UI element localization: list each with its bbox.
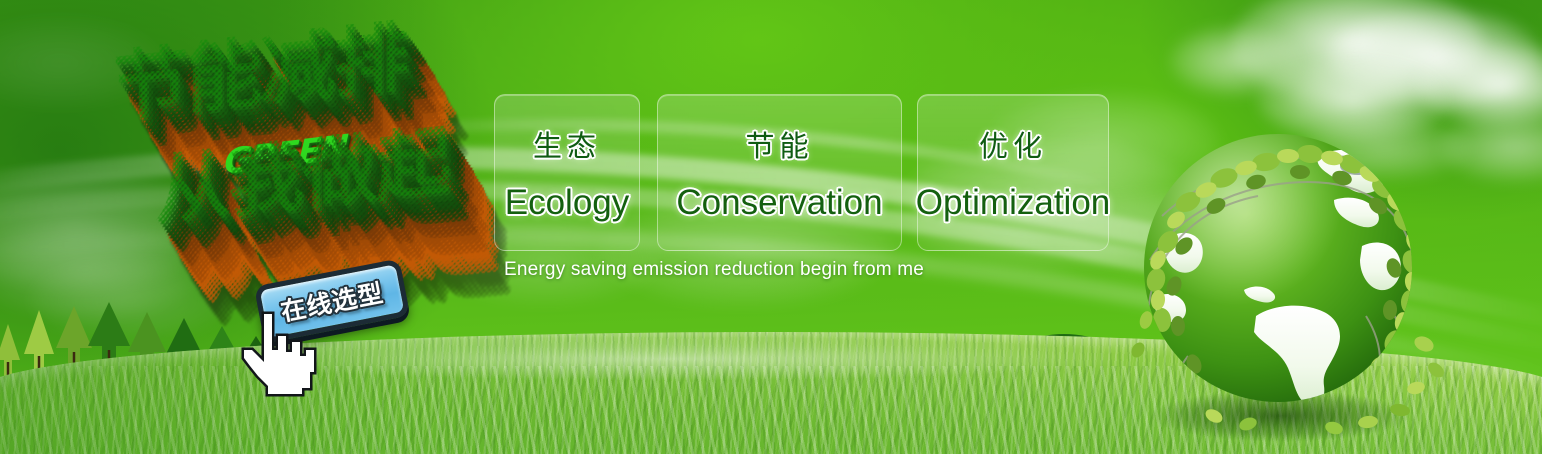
- feature-card-cn-label: 生态: [533, 123, 601, 165]
- feature-card-ecology[interactable]: 生态 Ecology: [494, 94, 640, 251]
- grass-highlight: [220, 338, 1120, 380]
- feature-card-optimization[interactable]: 优化 Optimization: [917, 94, 1109, 251]
- feature-card-cn-label: 优化: [979, 123, 1047, 165]
- feature-card-cn-label: 节能: [745, 123, 813, 165]
- feature-card-en-label: Optimization: [916, 183, 1111, 223]
- banner-tagline: Energy saving emission reduction begin f…: [504, 259, 924, 281]
- feature-card-en-label: Conservation: [676, 183, 882, 223]
- green-energy-banner: 节能减排 GREEN 从我做起 在线选型 生态 Ecology 节能 Conse…: [0, 0, 1542, 454]
- headline-line-2: 从我做起: [155, 122, 449, 229]
- headline-line-1: 节能减排: [113, 18, 407, 125]
- feature-card-en-label: Ecology: [505, 183, 630, 223]
- leafy-green-globe-icon: [1128, 120, 1448, 442]
- feature-card-conservation[interactable]: 节能 Conservation: [657, 94, 902, 251]
- headline-block: 节能减排 GREEN 从我做起: [96, 34, 496, 274]
